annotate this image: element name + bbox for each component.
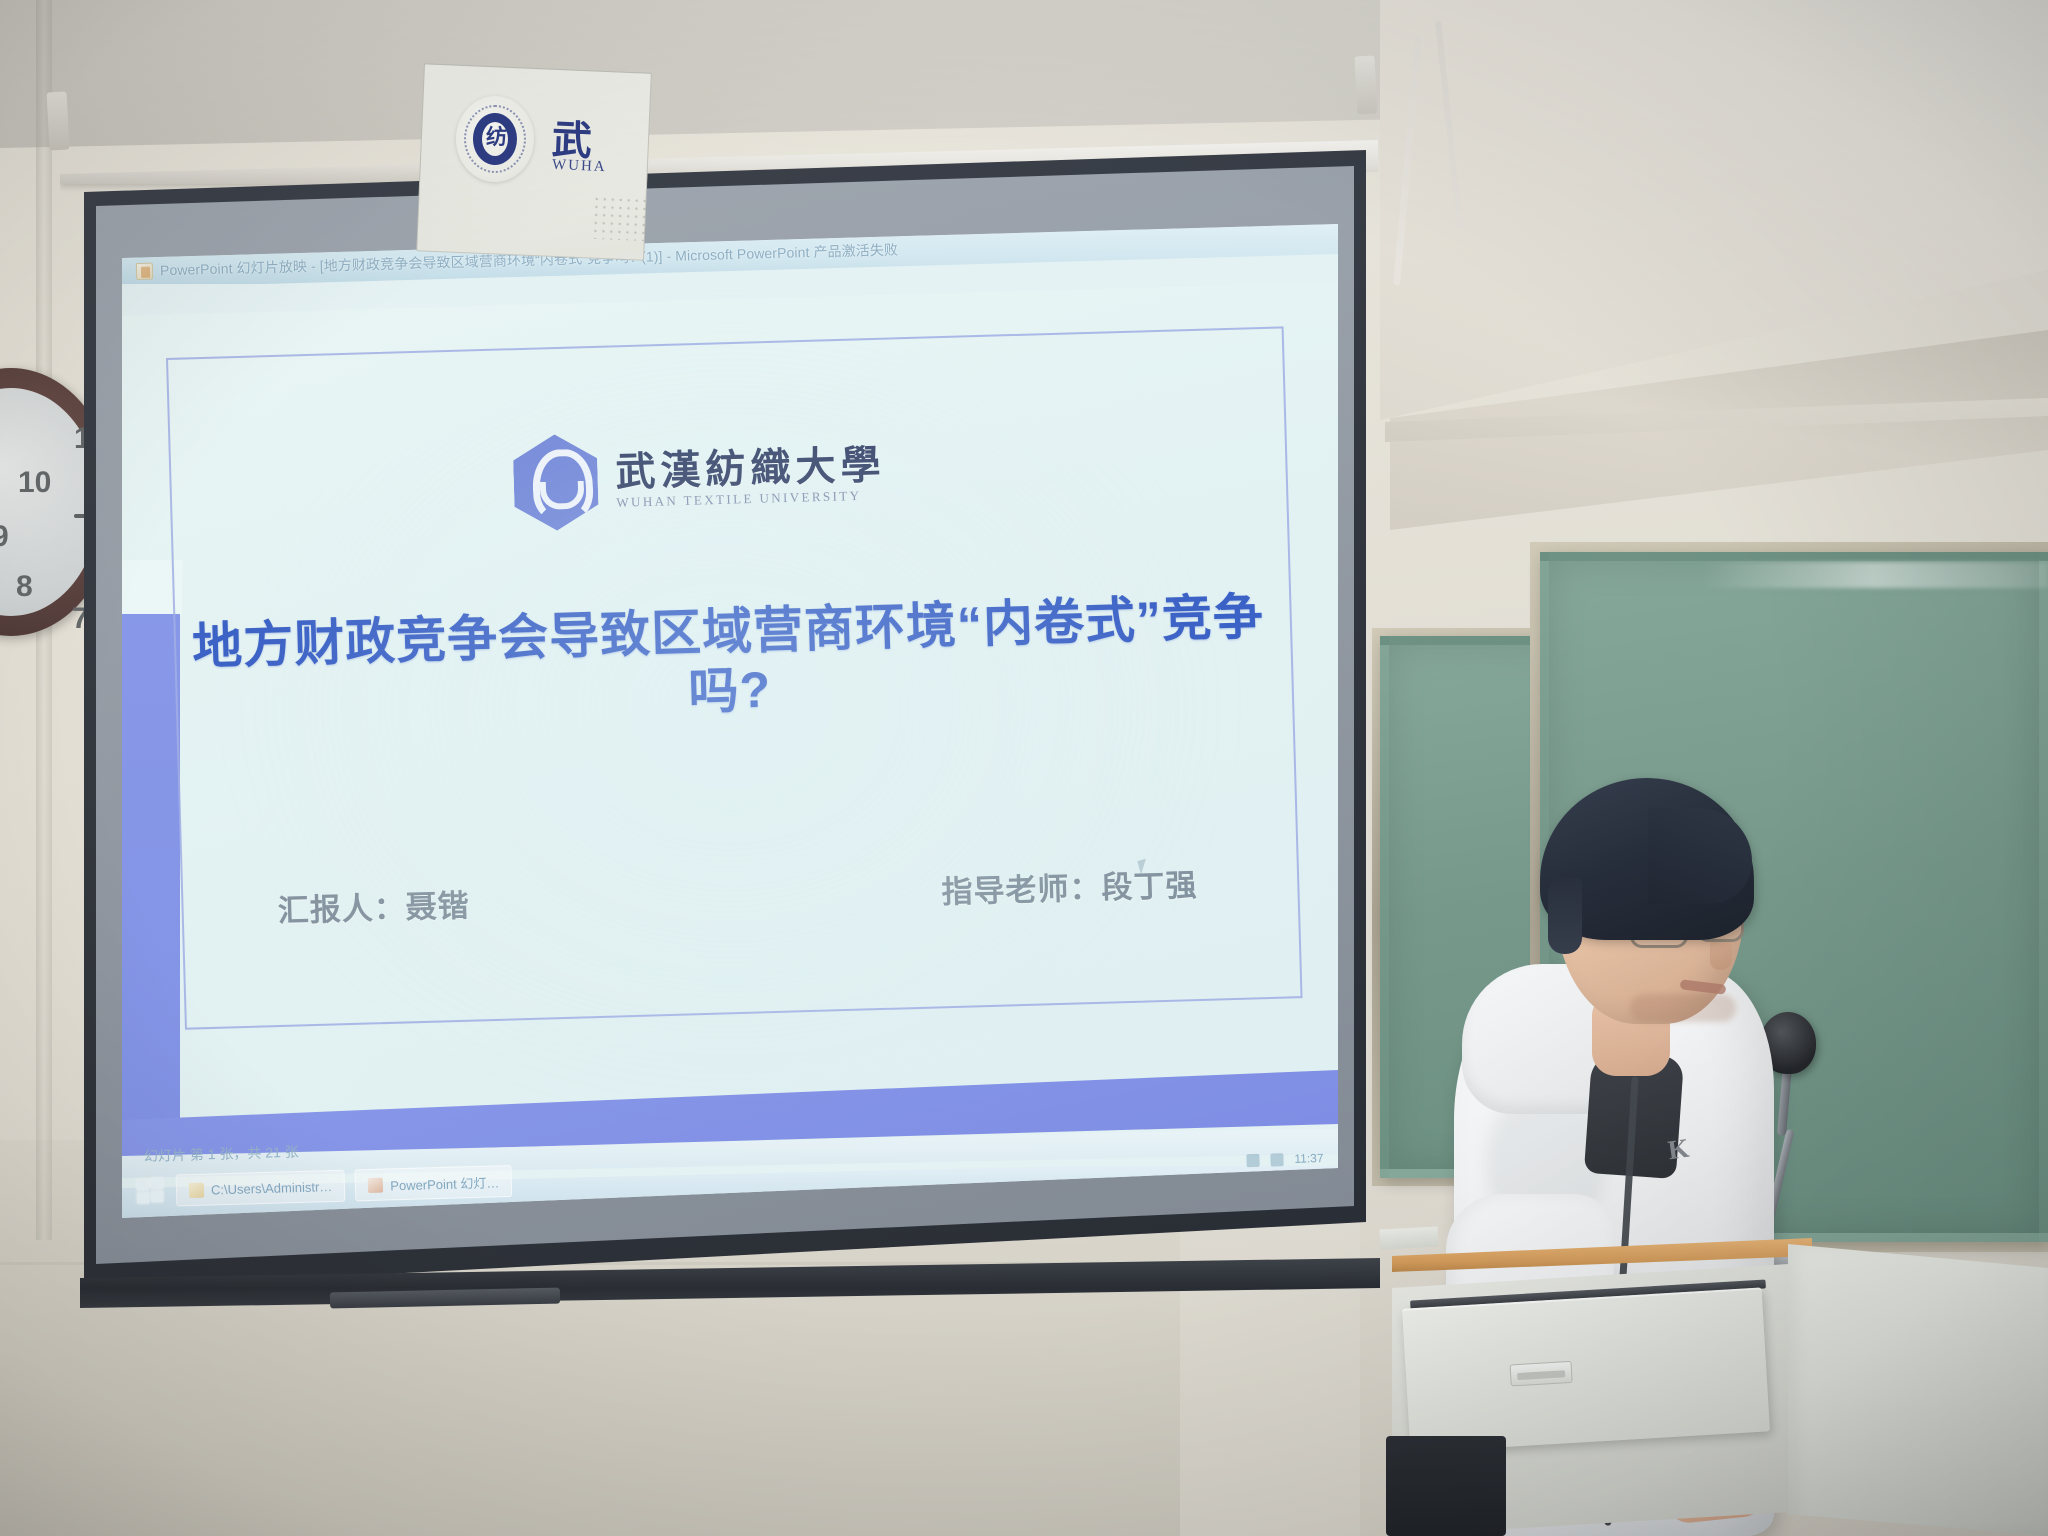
taskbar-item-explorer-label: C:\Users\Administr… <box>211 1179 333 1197</box>
slide-canvas[interactable]: 武漢紡織大學 WUHAN TEXTILE UNIVERSITY 地方财政竞争会导… <box>122 282 1338 1158</box>
lectern-university-name-english: WUHA <box>552 157 607 176</box>
lectern-speaker-vent <box>591 195 651 241</box>
taskbar-item-powerpoint[interactable]: PowerPoint 幻灯… <box>355 1165 513 1201</box>
lectern-front-panel <box>1788 1244 2048 1536</box>
taskbar-clock[interactable]: 11:37 <box>1294 1151 1324 1166</box>
taskbar-item-powerpoint-label: PowerPoint 幻灯… <box>390 1172 500 1194</box>
windows-start-icon[interactable] <box>136 1178 167 1205</box>
classroom-scene: 11 10 9 8 7 PowerPoint 幻灯片放映 - [地方财政竞争会导… <box>0 0 2048 1536</box>
university-seal-icon: 纺 <box>456 96 534 182</box>
clock-number-8: 8 <box>16 570 33 604</box>
seal-glyph: 纺 <box>486 126 504 152</box>
slide-content: 武漢紡織大學 WUHAN TEXTILE UNIVERSITY 地方财政竞争会导… <box>110 260 1350 1170</box>
slide-credits-row: 汇报人：聂锴 指导老师：段丁强 <box>277 860 1198 931</box>
slide-presenter-label: 汇报人：聂锴 <box>277 880 470 930</box>
network-icon[interactable] <box>1246 1153 1259 1166</box>
projected-desktop: PowerPoint 幻灯片放映 - [地方财政竞争会导致区域营商环境“内卷式”… <box>122 224 1338 1218</box>
presenter-sideburn <box>1548 878 1582 954</box>
lectern-drawer-handle[interactable] <box>1510 1361 1573 1387</box>
presenter-chin-shadow <box>1630 994 1736 1022</box>
lectern-drawer[interactable] <box>1402 1287 1770 1452</box>
presenter-hair-sweep <box>1648 808 1752 904</box>
screen-mount-bracket-right <box>1354 56 1377 115</box>
jacket-logo: K <box>1666 1133 1691 1167</box>
chalkboard-chalk-dust <box>1700 562 2048 588</box>
clock-number-9: 9 <box>0 520 9 554</box>
slide-advisor-label: 指导老师：段丁强 <box>941 860 1198 912</box>
screen-mount-bracket-left <box>46 92 69 151</box>
wuhan-textile-university-emblem-icon <box>512 433 599 531</box>
system-tray: 11:37 <box>1246 1151 1338 1168</box>
powerpoint-icon <box>368 1177 383 1192</box>
powerpoint-icon <box>136 262 153 279</box>
slide-title: 地方财政竞争会导致区域营商环境“内卷式”竞争吗? <box>179 587 1278 736</box>
university-logo-text: 武漢紡織大學 WUHAN TEXTILE UNIVERSITY <box>615 444 887 511</box>
volume-icon[interactable] <box>1270 1153 1283 1166</box>
folder-icon <box>189 1182 204 1197</box>
taskbar-item-explorer[interactable]: C:\Users\Administr… <box>176 1170 346 1207</box>
lectern-side-shadow <box>1386 1436 1506 1536</box>
university-logo: 武漢紡織大學 WUHAN TEXTILE UNIVERSITY <box>512 416 955 538</box>
university-name-chinese: 武漢紡織大學 <box>615 444 886 494</box>
clock-number-10: 10 <box>18 466 51 500</box>
